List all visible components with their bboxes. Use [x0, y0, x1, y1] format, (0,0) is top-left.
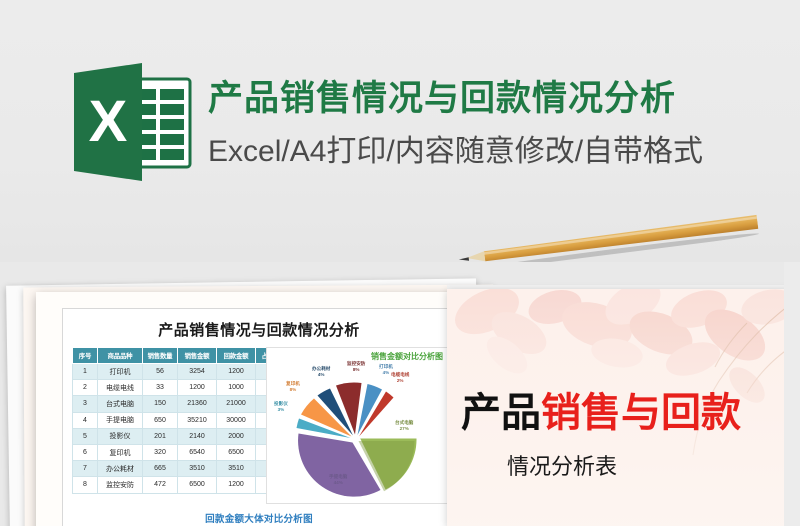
cell-amount: 3254: [178, 364, 217, 380]
cell-amount: 6500: [178, 477, 217, 493]
cell-returned: 1200: [217, 477, 256, 493]
svg-text:X: X: [89, 89, 128, 154]
cell-no: 4: [73, 412, 98, 428]
pie-label-projector: 投影仪3%: [274, 401, 288, 412]
table-row: 4 手提电脑 650 35210 30000 5210: [73, 412, 293, 428]
col-header-qty: 销售数量: [143, 348, 178, 364]
cell-amount: 3510: [178, 461, 217, 477]
pie-label-copier: 复印机8%: [286, 381, 300, 392]
cell-amount: 35210: [178, 412, 217, 428]
cell-qty: 472: [143, 477, 178, 493]
col-header-no: 序号: [73, 348, 98, 364]
pie-label-office-supplies: 办公耗材4%: [312, 366, 330, 377]
cell-kind: 打印机: [98, 364, 143, 380]
pie-chart-title: 销售金额对比分析图: [371, 351, 443, 362]
cell-qty: 150: [143, 396, 178, 412]
col-header-kind: 商品品种: [98, 348, 143, 364]
document-preview[interactable]: 产品销售情况与回款情况分析 序号 商品品种 销售数量 销售金额 回款金额 占收账…: [36, 292, 476, 526]
cell-kind: 办公耗材: [98, 461, 143, 477]
screenshot-root: X 产品销售情况与回款情况分析 Excel/A4打印/内容随意修改/自带格式: [0, 0, 800, 526]
cell-amount: 1200: [178, 380, 217, 396]
table-row: 7 办公耗材 665 3510 3510 0: [73, 461, 293, 477]
cell-qty: 665: [143, 461, 178, 477]
pie-label-security: 监控安防8%: [347, 361, 365, 372]
col-header-amount: 销售金额: [178, 348, 217, 364]
cell-qty: 201: [143, 428, 178, 444]
table-header-row: 序号 商品品种 销售数量 销售金额 回款金额 占收账款: [73, 348, 293, 364]
sales-table: 序号 商品品种 销售数量 销售金额 回款金额 占收账款 1 打印机 56 325…: [72, 347, 293, 494]
cell-returned: 21000: [217, 396, 256, 412]
table-row: 2 电缆电线 33 1200 1000 200: [73, 380, 293, 396]
cell-kind: 手提电脑: [98, 412, 143, 428]
cell-no: 7: [73, 461, 98, 477]
cell-kind: 电缆电线: [98, 380, 143, 396]
cell-returned: 1000: [217, 380, 256, 396]
table-row: 3 台式电脑 150 21360 21000 360: [73, 396, 293, 412]
document-title: 产品销售情况与回款情况分析: [63, 319, 455, 340]
cell-no: 8: [73, 477, 98, 493]
pie-chart-panel: 销售金额对比分析图: [266, 347, 448, 504]
cell-returned: 1200: [217, 364, 256, 380]
cell-no: 1: [73, 364, 98, 380]
table-row: 8 监控安防 472 6500 1200 5300: [73, 477, 293, 493]
pie-label-desktop: 台式电脑27%: [395, 420, 413, 431]
cell-qty: 33: [143, 380, 178, 396]
pie-label-laptop: 手提电脑44%: [329, 474, 347, 485]
cell-kind: 监控安防: [98, 477, 143, 493]
cell-amount: 6540: [178, 444, 217, 460]
col-header-returned: 回款金额: [217, 348, 256, 364]
cell-no: 6: [73, 444, 98, 460]
table-row: 6 复印机 320 6540 6500 40: [73, 444, 293, 460]
pie-label-cable: 电缆电线2%: [391, 372, 409, 383]
table-row: 5 投影仪 201 2140 2000 140: [73, 428, 293, 444]
promo-title-black: 产品: [461, 391, 541, 435]
banner-subtitle: Excel/A4打印/内容随意修改/自带格式: [208, 126, 703, 170]
cell-amount: 21360: [178, 396, 217, 412]
table-row: 1 打印机 56 3254 1200 2054: [73, 364, 293, 380]
cell-returned: 6500: [217, 444, 256, 460]
document-page: 产品销售情况与回款情况分析 序号 商品品种 销售数量 销售金额 回款金额 占收账…: [62, 308, 456, 526]
cell-qty: 56: [143, 364, 178, 380]
cell-no: 5: [73, 428, 98, 444]
right-edge-strip: [784, 262, 800, 526]
promo-title: 产品销售与回款: [461, 393, 741, 433]
cell-qty: 320: [143, 444, 178, 460]
chart-footer-label: 回款金额大体对比分析图: [63, 511, 455, 525]
promo-title-red: 销售与回款: [541, 391, 741, 435]
cell-returned: 2000: [217, 428, 256, 444]
cell-returned: 3510: [217, 461, 256, 477]
banner-title: 产品销售情况与回款情况分析: [208, 70, 676, 121]
promo-subtitle: 情况分析表: [507, 449, 617, 481]
cell-qty: 650: [143, 412, 178, 428]
cell-kind: 投影仪: [98, 428, 143, 444]
cell-kind: 复印机: [98, 444, 143, 460]
cell-kind: 台式电脑: [98, 396, 143, 412]
cell-returned: 30000: [217, 412, 256, 428]
cell-no: 2: [73, 380, 98, 396]
promo-panel: 产品销售与回款 情况分析表: [447, 289, 800, 526]
cell-no: 3: [73, 396, 98, 412]
cell-amount: 2140: [178, 428, 217, 444]
excel-logo-icon: X: [68, 57, 196, 185]
